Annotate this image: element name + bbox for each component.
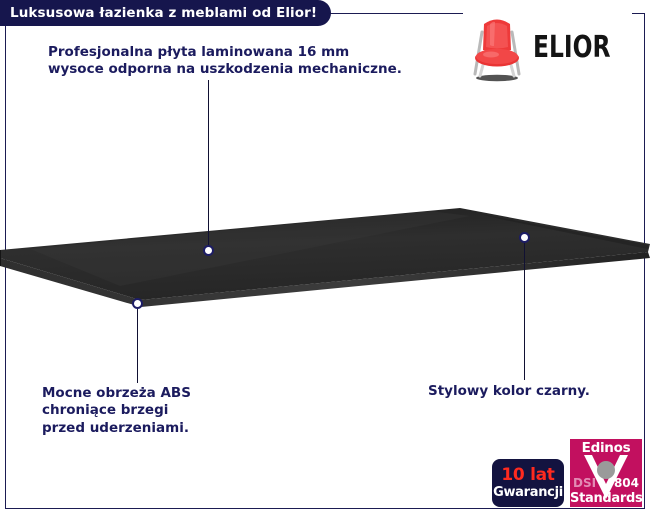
red-chair-icon	[469, 12, 525, 84]
warranty-badge: 10 lat Gwarancji	[492, 459, 564, 507]
board-svg	[0, 200, 650, 330]
warranty-label: Gwarancji	[493, 486, 563, 499]
callout-text-right: Stylowy kolor czarny.	[428, 383, 590, 400]
edinos-standards-label: Standards	[570, 491, 642, 506]
edinos-dsi-label: DSI	[573, 476, 596, 490]
product-board	[0, 200, 650, 330]
leader-line-right	[524, 238, 525, 380]
edinos-number: 804	[614, 476, 639, 490]
edinos-title: Edinos	[570, 440, 642, 456]
marker-dot-right	[519, 232, 530, 243]
edinos-standards-badge: Edinos DSI 804 Standards	[570, 439, 642, 507]
leader-line-top	[208, 80, 209, 252]
callout-text-top: Profesjonalna płyta laminowana 16 mm wys…	[48, 44, 402, 79]
product-infographic: Luksusowa łazienka z meblami od Elior! E…	[0, 0, 650, 514]
leader-line-left	[137, 303, 138, 383]
warranty-years: 10 lat	[501, 467, 554, 484]
marker-dot-top	[203, 245, 214, 256]
callout-text-left: Mocne obrzeża ABS chroniące brzegi przed…	[42, 385, 191, 437]
brand-name: ELIOR	[533, 33, 611, 63]
header-banner: Luksusowa łazienka z meblami od Elior!	[0, 0, 331, 26]
badges-group: 10 lat Gwarancji Edinos DSI 804 Standard…	[492, 439, 642, 507]
marker-dot-left	[132, 298, 143, 309]
brand-logo: ELIOR	[463, 12, 632, 84]
header-title: Luksusowa łazienka z meblami od Elior!	[10, 5, 317, 21]
